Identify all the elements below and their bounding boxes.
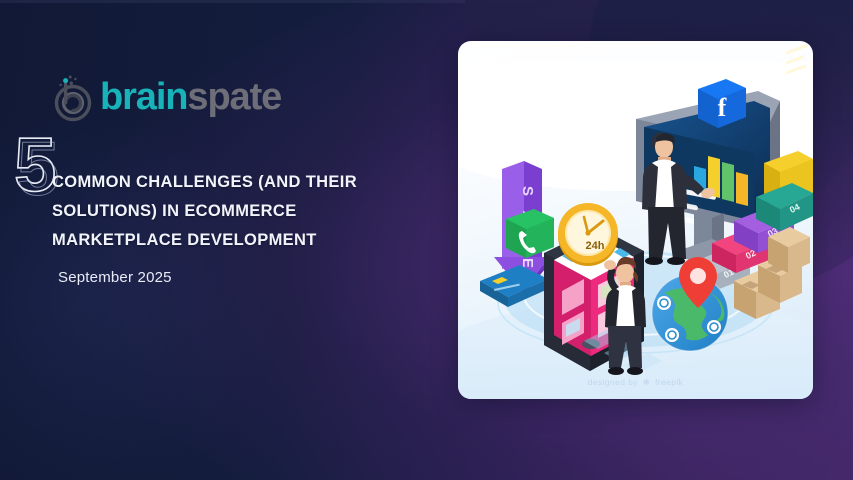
- illustration-card: S A L E: [458, 41, 813, 399]
- slide-number-five: 5: [14, 128, 54, 204]
- brainspate-b-logo-icon: [52, 71, 96, 123]
- freepik-logo-icon: ❄: [643, 377, 651, 388]
- title-line-1: COMMON CHALLENGES (AND THEIR: [52, 168, 432, 197]
- svg-text:24h: 24h: [586, 240, 605, 252]
- wordmark-brain: brain: [100, 76, 187, 118]
- publication-date: September 2025: [58, 269, 172, 286]
- brainspate-logo[interactable]: brainspate: [52, 71, 281, 123]
- freepik-attribution: designed by ❄ freepik: [458, 377, 813, 388]
- wordmark-spate: spate: [187, 76, 281, 118]
- svg-text:S: S: [519, 186, 536, 196]
- left-content-column: brainspate 5 COMMON CHALLENGES (AND THEI…: [0, 0, 450, 480]
- slide-background: brainspate 5 COMMON CHALLENGES (AND THEI…: [0, 0, 853, 480]
- svg-text:f: f: [718, 93, 727, 122]
- ecommerce-isometric-illustration: S A L E: [458, 41, 813, 399]
- page-title: COMMON CHALLENGES (AND THEIR SOLUTIONS) …: [52, 168, 432, 255]
- credit-brand: freepik: [655, 377, 683, 387]
- brainspate-wordmark: brainspate: [100, 78, 281, 116]
- credit-prefix: designed by: [588, 377, 638, 387]
- title-line-3: MARKETPLACE DEVELOPMENT: [52, 226, 432, 255]
- title-line-2: SOLUTIONS) IN ECOMMERCE: [52, 197, 432, 226]
- clock-24h-icon: 24h: [558, 203, 618, 266]
